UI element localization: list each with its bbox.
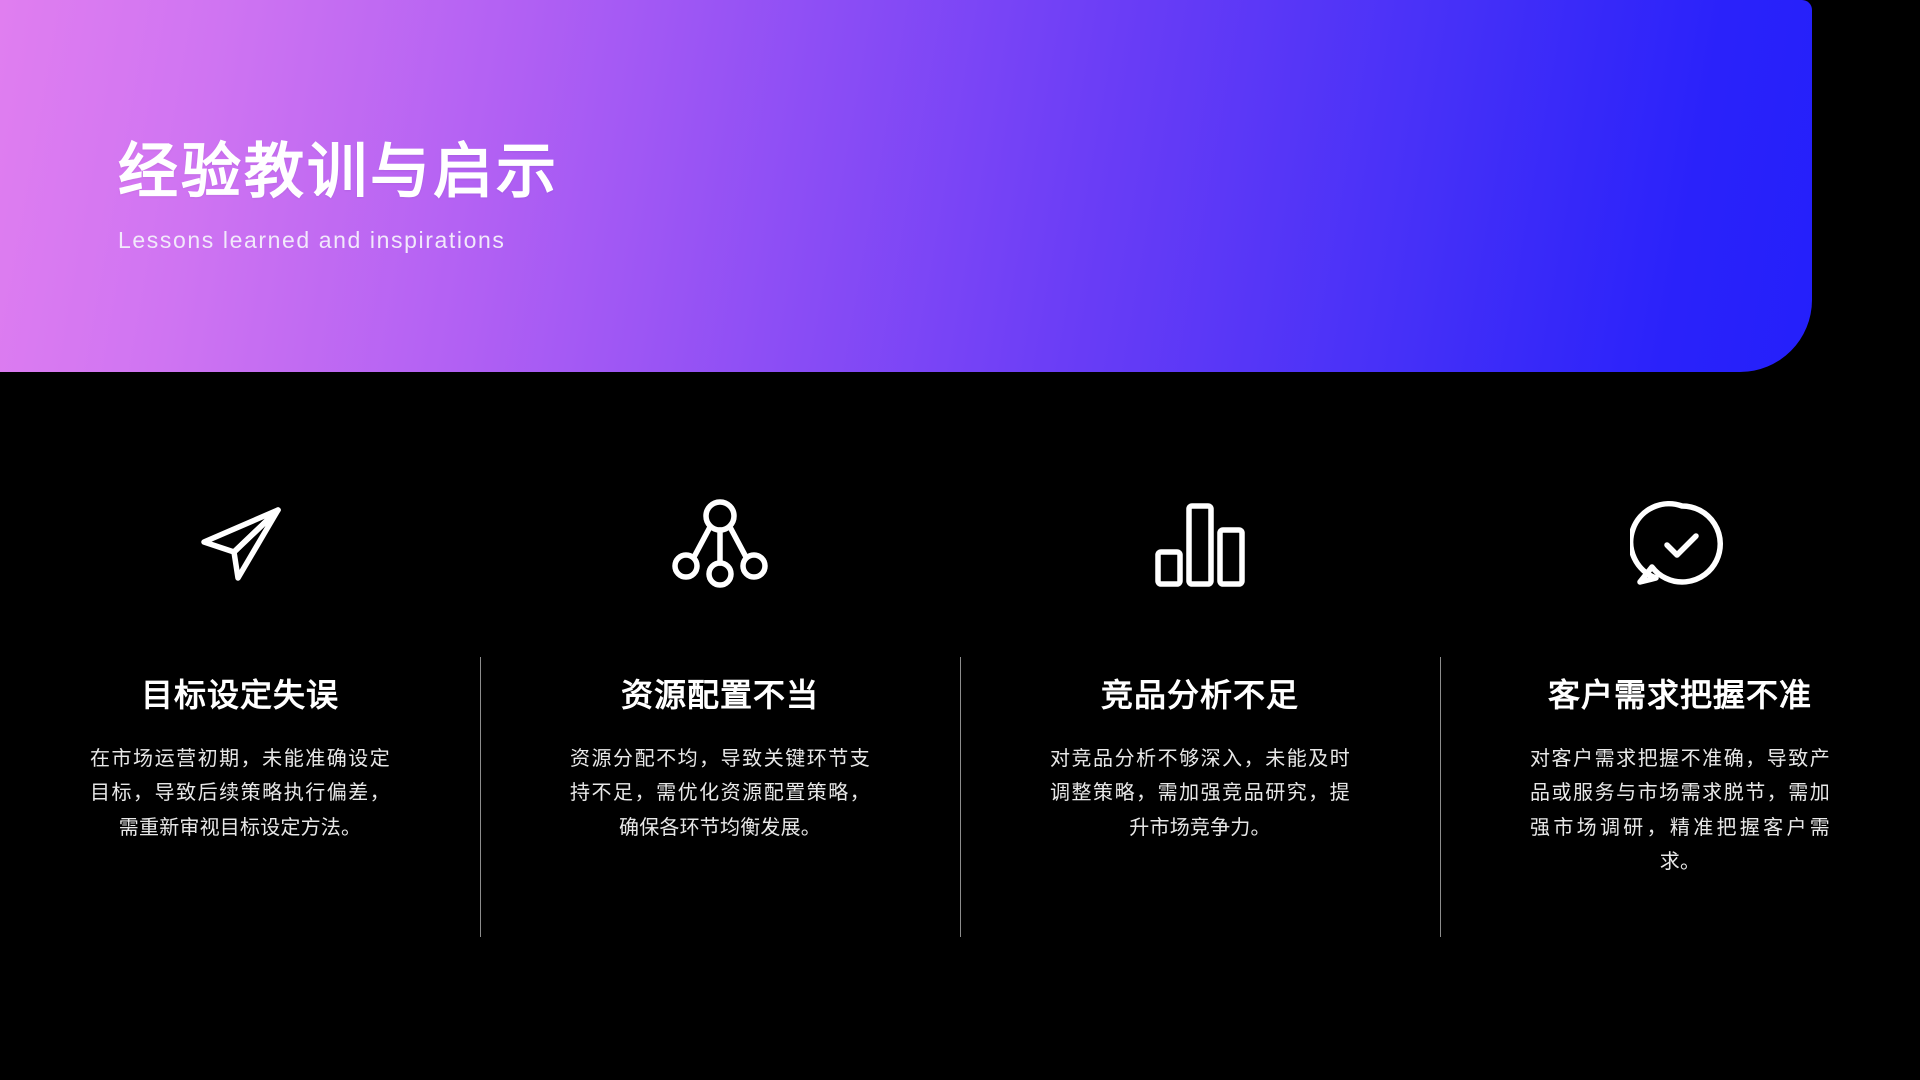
header-text-group: 经验教训与启示 Lessons learned and inspirations [118, 140, 559, 254]
card-body: 对客户需求把握不准确，导致产品或服务与市场需求脱节，需加强市场调研，精准把握客户… [1530, 742, 1830, 880]
page-subtitle: Lessons learned and inspirations [118, 227, 559, 254]
card-body: 在市场运营初期，未能准确设定目标，导致后续策略执行偏差，需重新审视目标设定方法。 [90, 742, 390, 845]
card-title: 资源配置不当 [621, 670, 819, 716]
header-banner: 经验教训与启示 Lessons learned and inspirations [0, 0, 1812, 372]
hierarchy-network-icon [670, 490, 770, 598]
column-resource-allocation: 资源配置不当 资源分配不均，导致关键环节支持不足，需优化资源配置策略，确保各环节… [480, 490, 960, 880]
card-body: 对竞品分析不够深入，未能及时调整策略，需加强竞品研究，提升市场竞争力。 [1050, 742, 1350, 845]
column-goal-setting: 目标设定失误 在市场运营初期，未能准确设定目标，导致后续策略执行偏差，需重新审视… [0, 490, 480, 880]
chat-check-icon [1630, 490, 1730, 598]
content-columns: 目标设定失误 在市场运营初期，未能准确设定目标，导致后续策略执行偏差，需重新审视… [0, 490, 1920, 880]
slide-root: 经验教训与启示 Lessons learned and inspirations… [0, 0, 1920, 1080]
paper-plane-icon [190, 490, 290, 598]
card-body: 资源分配不均，导致关键环节支持不足，需优化资源配置策略，确保各环节均衡发展。 [570, 742, 870, 845]
card-title: 目标设定失误 [141, 670, 339, 716]
column-competitor-analysis: 竞品分析不足 对竞品分析不够深入，未能及时调整策略，需加强竞品研究，提升市场竞争… [960, 490, 1440, 880]
page-title: 经验教训与启示 [118, 140, 559, 205]
bar-chart-icon [1150, 490, 1250, 598]
card-title: 竞品分析不足 [1101, 670, 1299, 716]
card-title: 客户需求把握不准 [1548, 670, 1812, 716]
column-customer-needs: 客户需求把握不准 对客户需求把握不准确，导致产品或服务与市场需求脱节，需加强市场… [1440, 490, 1920, 880]
